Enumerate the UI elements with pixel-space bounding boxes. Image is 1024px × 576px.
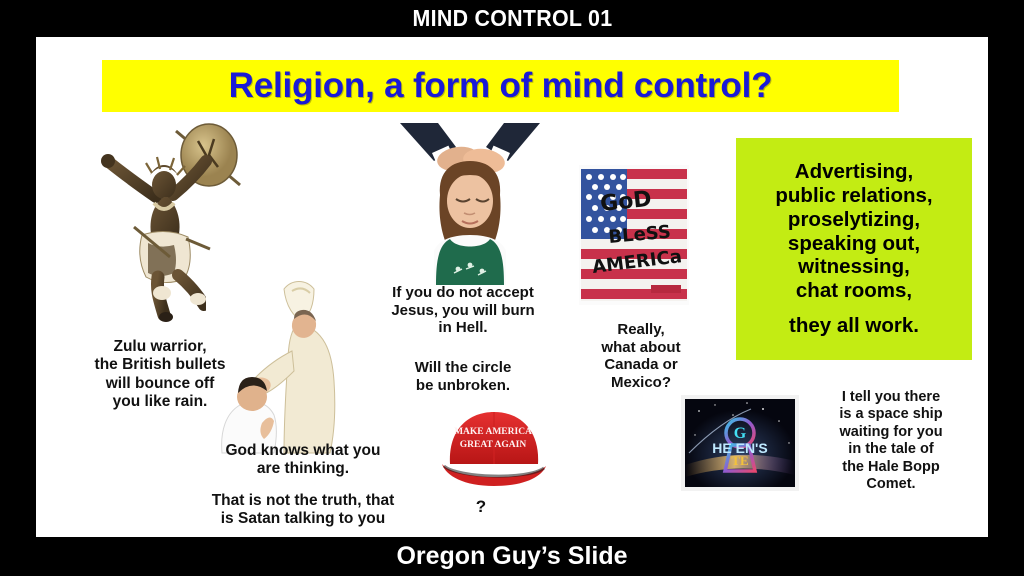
callout-closing-line: they all work. <box>789 314 919 338</box>
caption-line: That is not the truth, that <box>158 492 448 510</box>
caption-line: Mexico? <box>576 374 706 392</box>
caption-god-knows: God knows what you are thinking. <box>158 442 448 479</box>
caption-line: God knows what you <box>158 442 448 460</box>
advertising-callout-box: Advertising, public relations, proselyti… <box>736 138 972 360</box>
svg-text:HE EN'S: HE EN'S <box>712 440 767 456</box>
caption-line: the British bullets <box>58 356 262 374</box>
header-bar: MIND CONTROL 01 <box>0 0 1024 37</box>
caption-line: Comet. <box>801 476 981 493</box>
caption-line: in the tale of <box>801 441 981 458</box>
girl-blessing-photo <box>394 117 546 287</box>
caption-circle-unbroken: Will the circle be unbroken. <box>363 359 563 394</box>
callout-line: Advertising, <box>795 160 913 184</box>
maga-hat-photo: MAKE AMERICA GREAT AGAIN <box>430 402 556 494</box>
footer-credit: Oregon Guy’s Slide <box>396 542 627 571</box>
caption-line: Zulu warrior, <box>58 338 262 356</box>
caption-line: will bounce off <box>58 375 262 393</box>
slide-heading-banner: Religion, a form of mind control? <box>102 60 899 112</box>
callout-line: proselytizing, <box>788 208 920 232</box>
caption-line: the Hale Bopp <box>801 459 981 476</box>
callout-line: public relations, <box>775 184 932 208</box>
caption-zulu-warrior: Zulu warrior, the British bullets will b… <box>58 338 262 411</box>
caption-line: Will the circle <box>363 359 563 377</box>
caption-satan-talking: That is not the truth, that is Satan tal… <box>158 492 448 529</box>
callout-line: speaking out, <box>788 232 920 256</box>
slide-heading-text: Religion, a form of mind control? <box>229 66 773 106</box>
caption-line: are thinking. <box>158 460 448 478</box>
caption-line: is a space ship <box>801 406 981 423</box>
caption-line: Really, <box>576 321 706 339</box>
callout-line: chat rooms, <box>796 279 912 303</box>
caption-line: be unbroken. <box>363 377 563 395</box>
caption-hat-question-mark: ? <box>436 497 526 517</box>
caption-line: If you do not accept <box>363 284 563 302</box>
slide-canvas: Religion, a form of mind control? <box>36 37 988 537</box>
svg-text:GoD: GoD <box>599 187 653 217</box>
caption-canada-mexico: Really, what about Canada or Mexico? <box>576 321 706 392</box>
caption-line: you like rain. <box>58 393 262 411</box>
caption-line: in Hell. <box>363 319 563 337</box>
caption-line: what about <box>576 339 706 357</box>
page-title: MIND CONTROL 01 <box>412 5 612 32</box>
caption-line: Canada or <box>576 356 706 374</box>
heavens-gate-logo: G TE HE EN'S <box>681 395 799 491</box>
svg-text:GREAT AGAIN: GREAT AGAIN <box>460 440 527 450</box>
caption-line: is Satan talking to you <box>158 510 448 528</box>
caption-line: Jesus, you will burn <box>363 302 563 320</box>
caption-line: I tell you there <box>801 389 981 406</box>
callout-line: witnessing, <box>798 255 910 279</box>
footer-bar: Oregon Guy’s Slide <box>0 537 1024 576</box>
caption-line: waiting for you <box>801 424 981 441</box>
caption-jesus-hell: If you do not accept Jesus, you will bur… <box>363 284 563 337</box>
svg-text:MAKE AMERICA: MAKE AMERICA <box>454 427 532 437</box>
slide-frame: MIND CONTROL 01 Religion, a form of mind… <box>0 0 1024 576</box>
caption-hale-bopp: I tell you there is a space ship waiting… <box>801 389 981 493</box>
god-bless-america-flag: GoD BLeSS AMERICa <box>579 165 689 305</box>
